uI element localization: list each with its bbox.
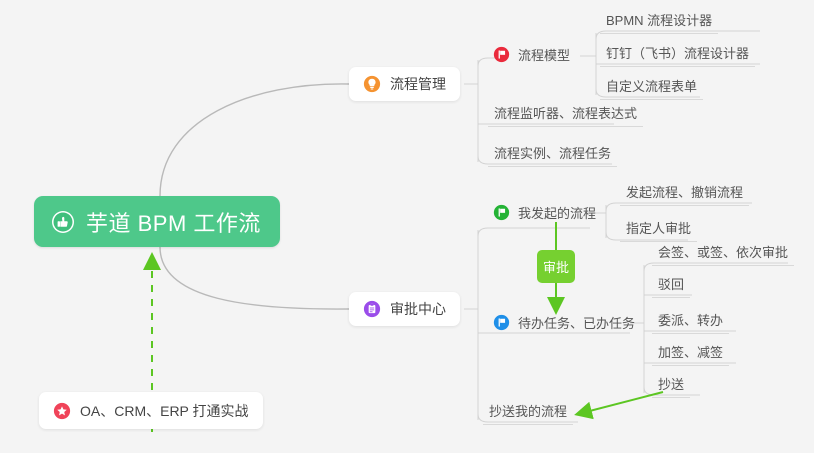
leaf-dingtalk-feishu-designer[interactable]: 钉钉（飞书）流程设计器 <box>600 45 755 67</box>
leaf-bpmn-designer[interactable]: BPMN 流程设计器 <box>600 12 718 34</box>
branch-node-approval-center[interactable]: 审批中心 <box>349 292 460 326</box>
branch-label-approval-center: 审批中心 <box>390 299 446 319</box>
node-my-started-process[interactable]: 我发起的流程 <box>493 201 596 223</box>
flag-icon <box>493 46 510 63</box>
leaf-start-cancel-process[interactable]: 发起流程、撤销流程 <box>620 184 749 206</box>
thumbs-up-icon <box>51 210 75 234</box>
flag-icon <box>493 204 510 221</box>
approval-tag[interactable]: 审批 <box>537 250 575 283</box>
leaf-assignee-approval[interactable]: 指定人审批 <box>620 220 697 242</box>
node-label-todo-done-task: 待办任务、已办任务 <box>518 313 635 332</box>
node-label-process-model: 流程模型 <box>518 45 570 64</box>
leaf-add-remove-sign[interactable]: 加签、减签 <box>652 344 729 366</box>
leaf-reject[interactable]: 驳回 <box>652 276 690 298</box>
root-node[interactable]: 芋道 BPM 工作流 <box>34 196 280 247</box>
root-label: 芋道 BPM 工作流 <box>86 206 261 238</box>
branch-label-process-management: 流程管理 <box>390 74 446 94</box>
leaf-countersign[interactable]: 会签、或签、依次审批 <box>652 244 794 266</box>
node-todo-done-task[interactable]: 待办任务、已办任务 <box>493 311 635 333</box>
node-process-model[interactable]: 流程模型 <box>493 43 570 65</box>
star-icon <box>53 402 71 420</box>
clipboard-icon <box>363 300 381 318</box>
lightbulb-icon <box>363 75 381 93</box>
flag-icon <box>493 314 510 331</box>
approval-tag-label: 审批 <box>543 257 569 276</box>
bottom-note-node[interactable]: OA、CRM、ERP 打通实战 <box>39 392 263 429</box>
leaf-instance-task[interactable]: 流程实例、流程任务 <box>488 145 617 167</box>
leaf-delegate-transfer[interactable]: 委派、转办 <box>652 312 729 334</box>
mindmap-canvas: 芋道 BPM 工作流 流程管理 流程模型 BPMN 流程设计器 钉钉（飞书）流程… <box>0 0 814 453</box>
leaf-cc-to-me[interactable]: 抄送我的流程 <box>483 403 573 425</box>
leaf-custom-process-form[interactable]: 自定义流程表单 <box>600 78 703 100</box>
bottom-note-label: OA、CRM、ERP 打通实战 <box>80 401 249 421</box>
leaf-cc[interactable]: 抄送 <box>652 376 690 398</box>
branch-node-process-management[interactable]: 流程管理 <box>349 67 460 101</box>
node-label-my-started-process: 我发起的流程 <box>518 203 596 222</box>
leaf-listener-expression[interactable]: 流程监听器、流程表达式 <box>488 105 643 127</box>
